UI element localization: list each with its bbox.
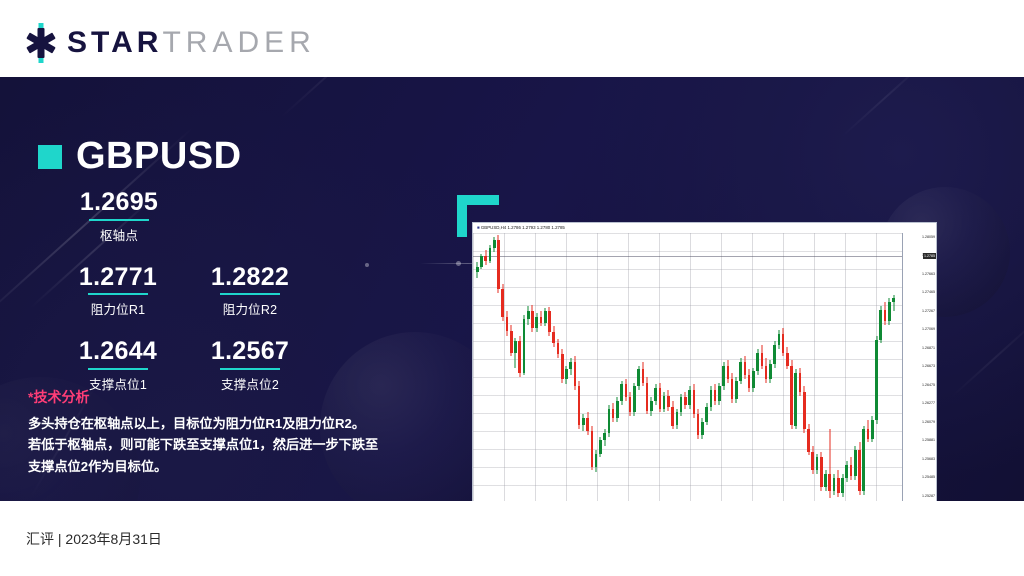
price-tick-label: 1.28059	[922, 235, 935, 240]
candle-body	[497, 240, 500, 290]
candlestick	[718, 233, 721, 501]
candle-body	[794, 373, 797, 425]
price-tick-label: 1.25485	[922, 475, 935, 480]
technical-analysis: *技术分析 多头持仓在枢轴点以上，目标位为阻力位R1及阻力位R2。 若低于枢轴点…	[28, 387, 408, 477]
level-value: 1.2644	[52, 338, 184, 365]
candle-body	[633, 386, 636, 412]
decor-streak	[840, 77, 931, 138]
candle-body	[510, 331, 513, 352]
candlestick	[667, 233, 670, 501]
candle-body	[625, 384, 628, 397]
candlestick	[761, 233, 764, 501]
candle-body	[710, 390, 713, 407]
candle-body	[739, 362, 742, 381]
candlestick	[828, 233, 831, 501]
level-value: 1.2695	[48, 189, 190, 216]
candlestick	[637, 233, 640, 501]
candle-body	[807, 429, 810, 451]
candle-body	[718, 386, 721, 401]
candlestick	[484, 233, 487, 501]
candle-body	[523, 319, 526, 373]
candlestick	[557, 233, 560, 501]
candle-body	[748, 375, 751, 388]
candle-body	[684, 397, 687, 404]
candle-body	[778, 334, 781, 345]
candlestick	[561, 233, 564, 501]
candlestick	[518, 233, 521, 501]
candlestick	[650, 233, 653, 501]
candlestick	[786, 233, 789, 501]
candlestick	[676, 233, 679, 501]
candlestick	[629, 233, 632, 501]
candle-body	[540, 317, 543, 323]
candlestick	[739, 233, 742, 501]
analysis-line: 若低于枢轴点，则可能下跌至支撑点位1，然后进一步下跌至	[28, 434, 408, 455]
decor-dot	[365, 263, 369, 267]
page-header: STAR TRADER	[0, 0, 1024, 77]
candlestick	[879, 233, 882, 501]
candlestick	[659, 233, 662, 501]
candlestick	[476, 233, 479, 501]
footer-text: 汇评 | 2023年8月31日	[26, 529, 162, 549]
candlestick	[582, 233, 585, 501]
candlestick	[608, 233, 611, 501]
candle-body	[841, 478, 844, 493]
candlestick	[642, 233, 645, 501]
candle-body	[680, 397, 683, 412]
candle-body	[599, 440, 602, 453]
candle-body	[722, 366, 725, 387]
candle-body	[561, 354, 564, 378]
candlestick	[633, 233, 636, 501]
candle-wick	[893, 295, 894, 312]
candlestick	[875, 233, 878, 501]
chart-title: ■ GBPUSD,H4 1.2786 1.2793 1.2780 1.2785	[473, 223, 936, 233]
candle-body	[786, 353, 789, 366]
candlestick	[794, 233, 797, 501]
analysis-title: *技术分析	[28, 387, 408, 407]
candlestick	[620, 233, 623, 501]
square-marker-icon	[38, 145, 62, 169]
candlestick	[544, 233, 547, 501]
candlestick	[837, 233, 840, 501]
decor-streak	[950, 317, 1024, 399]
price-tick-label: 1.25287	[922, 494, 935, 499]
candlestick	[548, 233, 551, 501]
candlestick	[680, 233, 683, 501]
candle-body	[506, 317, 509, 331]
candlestick	[727, 233, 730, 501]
candle-body	[735, 381, 738, 400]
level-underline	[220, 368, 280, 370]
analysis-line: 支撑点位2作为目标位。	[28, 456, 408, 477]
candlestick	[599, 233, 602, 501]
candlestick	[714, 233, 717, 501]
candlestick	[574, 233, 577, 501]
candle-body	[714, 390, 717, 401]
candle-body	[884, 310, 887, 321]
candle-body	[565, 369, 568, 378]
candle-body	[850, 465, 853, 476]
level-underline	[220, 293, 280, 295]
current-price-label: 1.2785	[923, 253, 936, 259]
candlestick	[688, 233, 691, 501]
price-tick-label: 1.26673	[922, 364, 935, 369]
candle-body	[620, 384, 623, 401]
candlestick	[803, 233, 806, 501]
candle-body	[514, 341, 517, 352]
candle-body	[862, 429, 865, 491]
candle-body	[548, 311, 551, 332]
candlestick	[493, 233, 496, 501]
candlestick	[646, 233, 649, 501]
candlestick	[701, 233, 704, 501]
candle-body	[527, 311, 530, 319]
level-s1: 1.2644 支撑点位1	[52, 338, 184, 393]
candlestick	[710, 233, 713, 501]
candlestick	[867, 233, 870, 501]
level-value: 1.2822	[184, 264, 316, 291]
candle-body	[731, 379, 734, 400]
level-label: 阻力位R2	[184, 299, 316, 318]
candlestick	[697, 233, 700, 501]
price-tick-label: 1.25881	[922, 438, 935, 443]
candle-body	[608, 409, 611, 433]
candlestick	[616, 233, 619, 501]
candle-body	[744, 362, 747, 375]
candlestick	[845, 233, 848, 501]
candlestick	[510, 233, 513, 501]
analysis-body: 多头持仓在枢轴点以上，目标位为阻力位R1及阻力位R2。 若低于枢轴点，则可能下跌…	[28, 413, 408, 477]
level-r1: 1.2771 阻力位R1	[52, 264, 184, 319]
main-stage: GBPUSD 1.2695 枢轴点 1.2771 阻力位R1 1.2822 阻力…	[0, 77, 1024, 501]
candlestick	[778, 233, 781, 501]
candle-body	[782, 334, 785, 353]
candle-body	[773, 345, 776, 364]
candlestick	[892, 233, 895, 501]
candlestick	[756, 233, 759, 501]
candlestick	[790, 233, 793, 501]
level-pivot: 1.2695 枢轴点	[48, 189, 190, 244]
candlestick	[654, 233, 657, 501]
candle-body	[790, 366, 793, 426]
candle-body	[765, 366, 768, 379]
decor-streak	[280, 77, 393, 118]
candle-body	[663, 396, 666, 409]
candle-body	[659, 388, 662, 409]
level-underline	[88, 293, 148, 295]
candle-body	[518, 341, 521, 373]
candlestick	[735, 233, 738, 501]
candlestick	[603, 233, 606, 501]
candlestick	[744, 233, 747, 501]
level-label: 阻力位R1	[52, 299, 184, 318]
candle-body	[557, 343, 560, 354]
candlestick	[569, 233, 572, 501]
candlestick	[811, 233, 814, 501]
candle-body	[867, 429, 870, 438]
candlestick	[858, 233, 861, 501]
candlestick	[765, 233, 768, 501]
price-tick-label: 1.26277	[922, 401, 935, 406]
candlestick	[833, 233, 836, 501]
candlestick	[722, 233, 725, 501]
candle-body	[591, 431, 594, 467]
candle-body	[612, 409, 615, 418]
candle-body	[858, 450, 861, 491]
candlestick	[523, 233, 526, 501]
price-tick-label: 1.26475	[922, 383, 935, 388]
candlestick	[501, 233, 504, 501]
candlestick	[595, 233, 598, 501]
candlestick	[540, 233, 543, 501]
candlestick	[612, 233, 615, 501]
level-s2: 1.2567 支撑点位2	[184, 338, 316, 393]
candle-body	[892, 298, 895, 302]
candlestick	[773, 233, 776, 501]
candle-body	[837, 478, 840, 493]
candlestick	[799, 233, 802, 501]
candle-body	[552, 332, 555, 343]
candlestick	[884, 233, 887, 501]
page-footer: 汇评 | 2023年8月31日	[0, 501, 1024, 576]
candle-body	[629, 397, 632, 412]
brand-logo[interactable]: STAR TRADER	[24, 26, 316, 60]
candle-body	[854, 450, 857, 476]
candlestick	[591, 233, 594, 501]
candle-body	[833, 478, 836, 491]
candle-body	[693, 390, 696, 414]
level-value: 1.2771	[52, 264, 184, 291]
candle-body	[654, 388, 657, 401]
candle-body	[803, 392, 806, 429]
candlestick	[841, 233, 844, 501]
candlestick	[506, 233, 509, 501]
candle-body	[476, 267, 479, 273]
candlestick	[684, 233, 687, 501]
candle-body	[603, 433, 606, 440]
brand-name-light: TRADER	[162, 26, 315, 60]
candlestick	[497, 233, 500, 501]
candlestick	[854, 233, 857, 501]
candlestick	[671, 233, 674, 501]
candlestick	[552, 233, 555, 501]
candle-body	[871, 420, 874, 439]
candle-body	[756, 353, 759, 372]
candlestick	[871, 233, 874, 501]
candle-body	[582, 418, 585, 425]
price-tick-label: 1.25683	[922, 457, 935, 462]
candlestick	[625, 233, 628, 501]
candle-body	[650, 401, 653, 410]
candlestick	[824, 233, 827, 501]
candle-body	[637, 369, 640, 386]
candlestick	[888, 233, 891, 501]
candlestick	[752, 233, 755, 501]
candle-body	[875, 340, 878, 420]
price-tick-label: 1.26871	[922, 346, 935, 351]
candle-body	[489, 248, 492, 261]
candle-body	[769, 364, 772, 379]
candle-body	[676, 412, 679, 425]
candle-body	[646, 383, 649, 411]
candle-body	[879, 310, 882, 340]
price-tick-label: 1.27663	[922, 272, 935, 277]
analysis-line: 多头持仓在枢轴点以上，目标位为阻力位R1及阻力位R2。	[28, 413, 408, 434]
candle-body	[824, 474, 827, 487]
candle-body	[888, 302, 891, 321]
candlestick	[782, 233, 785, 501]
candle-body	[531, 311, 534, 329]
candlestick	[663, 233, 666, 501]
candle-body	[595, 454, 598, 467]
candlestick	[693, 233, 696, 501]
candlestick	[731, 233, 734, 501]
price-axis[interactable]: 1.280591.278611.276631.274651.272671.270…	[902, 233, 936, 501]
candlestick	[489, 233, 492, 501]
candle-body	[642, 369, 645, 382]
candle-body	[799, 373, 802, 392]
page-title: GBPUSD	[76, 135, 242, 178]
candle-body	[811, 452, 814, 471]
candlestick	[816, 233, 819, 501]
candle-body	[671, 407, 674, 426]
price-chart[interactable]: ■ GBPUSD,H4 1.2786 1.2793 1.2780 1.2785 …	[472, 222, 937, 501]
candle-body	[816, 457, 819, 470]
instrument-title: GBPUSD	[38, 135, 242, 178]
price-tick-label: 1.26079	[922, 420, 935, 425]
candlestick	[586, 233, 589, 501]
brand-name-bold: STAR	[67, 26, 162, 60]
candle-body	[845, 465, 848, 478]
level-r2: 1.2822 阻力位R2	[184, 264, 316, 319]
candlestick	[480, 233, 483, 501]
candlestick	[705, 233, 708, 501]
candle-body	[828, 474, 831, 491]
candle-body	[761, 353, 764, 366]
candle-body	[701, 422, 704, 435]
candle-body	[688, 390, 691, 405]
level-label: 枢轴点	[48, 225, 190, 244]
candle-body	[480, 256, 483, 266]
chart-plot-area[interactable]	[473, 233, 902, 501]
price-tick-label: 1.27465	[922, 290, 935, 295]
candle-body	[501, 289, 504, 317]
pivot-levels: 1.2695 枢轴点 1.2771 阻力位R1 1.2822 阻力位R2 1.2…	[38, 189, 318, 393]
candle-body	[493, 240, 496, 248]
candlestick	[535, 233, 538, 501]
candle-body	[752, 371, 755, 388]
candle-body	[569, 362, 572, 369]
candle-body	[727, 366, 730, 379]
candle-body	[484, 256, 487, 261]
candlestick	[820, 233, 823, 501]
candle-body	[616, 401, 619, 418]
candlestick	[748, 233, 751, 501]
price-tick-label: 1.27069	[922, 327, 935, 332]
candlestick	[514, 233, 517, 501]
candle-body	[535, 317, 538, 328]
candlestick	[565, 233, 568, 501]
price-tick-label: 1.27267	[922, 309, 935, 314]
candlestick	[531, 233, 534, 501]
asterisk-star-icon	[24, 26, 58, 60]
candlestick	[807, 233, 810, 501]
candlestick	[850, 233, 853, 501]
candlestick	[527, 233, 530, 501]
candle-body	[667, 396, 670, 407]
level-underline	[88, 368, 148, 370]
candle-body	[697, 414, 700, 435]
candle-body	[544, 311, 547, 322]
candle-body	[586, 418, 589, 431]
level-underline	[89, 219, 149, 221]
candlestick	[862, 233, 865, 501]
candle-body	[578, 386, 581, 425]
chart-title-text: GBPUSD,H4 1.2786 1.2793 1.2780 1.2785	[481, 225, 565, 230]
level-value: 1.2567	[184, 338, 316, 365]
candlestick	[769, 233, 772, 501]
candle-body	[574, 362, 577, 386]
candlestick	[578, 233, 581, 501]
candle-body	[705, 407, 708, 422]
candle-body	[820, 457, 823, 487]
